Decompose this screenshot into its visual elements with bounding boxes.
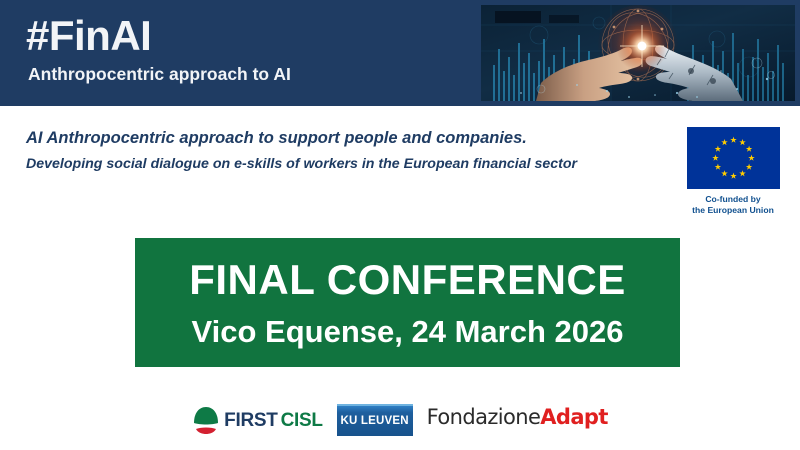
brand-block: #FinAI Anthropocentric approach to AI (26, 13, 291, 85)
logo-first-cisl: FIRSTCISL (192, 403, 322, 437)
banner-illustration (481, 5, 795, 101)
european-union-flag-icon (687, 127, 780, 189)
fondazione-word: Fondazione (427, 405, 541, 429)
eu-caption-line-1: Co-funded by (683, 194, 783, 205)
subtitle-line-1: AI Anthropocentric approach to support p… (26, 126, 666, 150)
first-cisl-wordmark: FIRSTCISL (224, 411, 322, 430)
cisl-word: CISL (281, 410, 323, 431)
partner-logos-row: FIRSTCISL KU LEUVEN FondazioneAdapt (0, 398, 800, 442)
conference-location-date: Vico Equense, 24 March 2026 (192, 314, 624, 350)
brand-subtitle: Anthropocentric approach to AI (28, 63, 291, 85)
eu-caption: Co-funded by the European Union (683, 194, 783, 216)
ku-leuven-wordmark: KU LEUVEN (341, 415, 409, 427)
logo-ku-leuven: KU LEUVEN (337, 404, 413, 436)
ai-hands-banner-image (481, 5, 795, 101)
final-conference-banner: FINAL CONFERENCE Vico Equense, 24 March … (135, 238, 680, 367)
conference-title: FINAL CONFERENCE (189, 256, 626, 304)
subtitle-block: AI Anthropocentric approach to support p… (26, 126, 666, 175)
brand-title: #FinAI (26, 13, 291, 59)
subtitle-line-2: Developing social dialogue on e-skills o… (26, 153, 666, 175)
conference-announcement-slide: #FinAI Anthropocentric approach to AI (0, 0, 800, 450)
adapt-word: Adapt (540, 405, 608, 429)
logo-fondazione-adapt: FondazioneAdapt (427, 405, 608, 435)
eu-caption-line-2: the European Union (683, 205, 783, 216)
eu-cofunding-logo: Co-funded by the European Union (683, 127, 783, 216)
header-band: #FinAI Anthropocentric approach to AI (0, 0, 800, 106)
first-word: FIRST (224, 410, 277, 431)
first-cisl-mark-icon (192, 405, 220, 435)
